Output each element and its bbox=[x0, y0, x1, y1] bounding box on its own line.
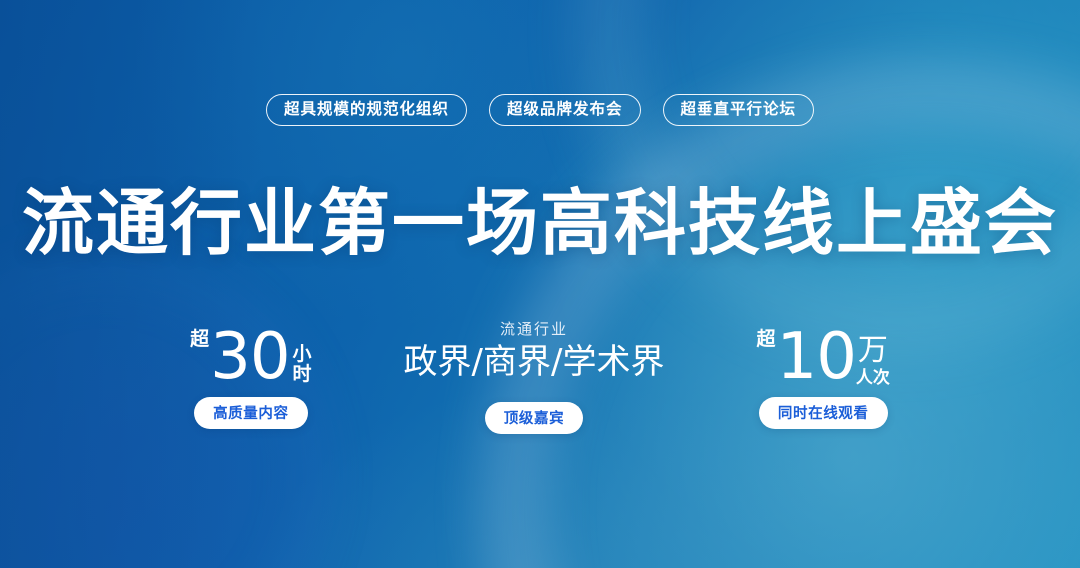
stat-viewers-number: 10 bbox=[776, 327, 855, 388]
stat-viewers-prefix: 超 bbox=[756, 324, 775, 351]
poster-content: 超具规模的规范化组织 超级品牌发布会 超垂直平行论坛 流通行业第一场高科技线上盛… bbox=[0, 0, 1080, 568]
stat-viewers-badge: 同时在线观看 bbox=[759, 397, 888, 429]
stat-duration: 超 30 小 时 高质量内容 bbox=[190, 318, 311, 429]
stat-guests-badge: 顶级嘉宾 bbox=[485, 402, 583, 434]
stat-viewers: 超 10 万 人次 同时在线观看 bbox=[756, 318, 889, 429]
promo-poster: 超具规模的规范化组织 超级品牌发布会 超垂直平行论坛 流通行业第一场高科技线上盛… bbox=[0, 0, 1080, 568]
stat-guests-main-label: 政界/商界/学术界 bbox=[404, 344, 665, 381]
tagline-pill-row: 超具规模的规范化组织 超级品牌发布会 超垂直平行论坛 bbox=[0, 94, 1080, 126]
stat-duration-number: 30 bbox=[210, 327, 289, 388]
tagline-pill-scale: 超具规模的规范化组织 bbox=[266, 94, 467, 126]
stat-guests-value-line: 流通行业 政界/商界/学术界 bbox=[404, 318, 665, 388]
page-title: 流通行业第一场高科技线上盛会 bbox=[0, 188, 1080, 260]
stat-guests: 流通行业 政界/商界/学术界 顶级嘉宾 bbox=[404, 318, 665, 434]
tagline-pill-forum: 超垂直平行论坛 bbox=[663, 94, 815, 126]
stat-viewers-unit-sub: 人次 bbox=[856, 369, 890, 386]
tagline-pill-brand: 超级品牌发布会 bbox=[489, 94, 641, 126]
stat-duration-unit-top: 小 bbox=[293, 345, 312, 365]
stat-viewers-unit: 万 人次 bbox=[856, 336, 890, 386]
stat-viewers-value-line: 超 10 万 人次 bbox=[756, 318, 889, 388]
stat-viewers-unit-main: 万 bbox=[858, 336, 888, 366]
stat-duration-unit: 小 时 bbox=[293, 345, 312, 385]
stats-row: 超 30 小 时 高质量内容 流通行业 政界/商界/学术界 顶级嘉宾 bbox=[0, 318, 1080, 434]
stat-duration-value-line: 超 30 小 时 bbox=[190, 318, 311, 388]
stat-duration-unit-bottom: 时 bbox=[293, 365, 312, 385]
stat-duration-badge: 高质量内容 bbox=[194, 397, 308, 429]
stat-duration-prefix: 超 bbox=[190, 324, 209, 351]
stat-guests-sub-label: 流通行业 bbox=[500, 318, 568, 339]
